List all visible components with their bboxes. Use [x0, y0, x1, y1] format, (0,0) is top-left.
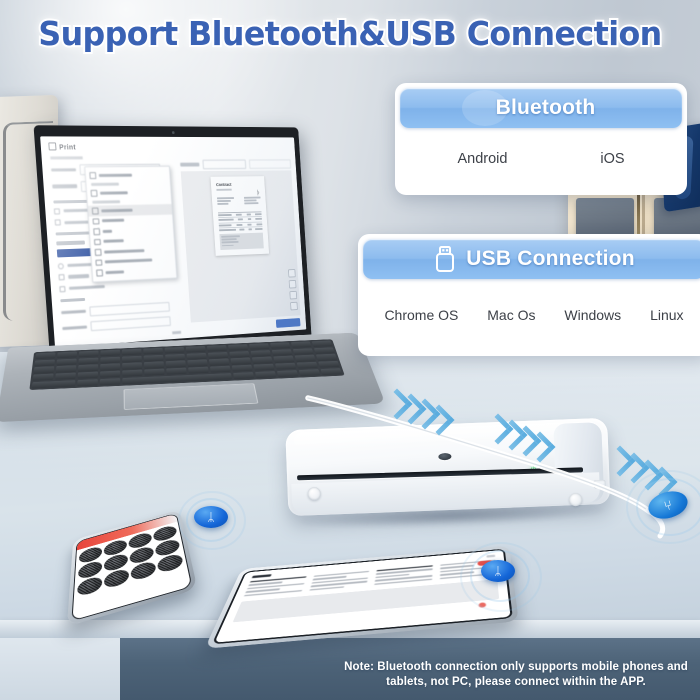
desk-underside-left [0, 638, 120, 700]
print-dialog: Print [40, 136, 306, 347]
dropdown-item[interactable] [92, 264, 176, 278]
os-label-windows: Windows [564, 307, 621, 323]
usb-port [593, 480, 605, 488]
laptop-keyboard[interactable] [29, 339, 344, 390]
usb-os-list: Chrome OS Mac Os Windows Linux [358, 279, 700, 351]
os-label-chromeos: Chrome OS [384, 307, 458, 323]
os-label-ios: iOS [600, 151, 624, 167]
preview-column: Contract ᚦ [180, 159, 301, 322]
preview-toolbar[interactable] [180, 159, 291, 169]
panel-connector [637, 193, 640, 235]
footer-note: Note: Bluetooth connection only supports… [336, 660, 696, 690]
laptop-screen: Print [40, 136, 306, 347]
dropdown-item[interactable] [85, 170, 169, 181]
gallery-item[interactable] [104, 567, 129, 589]
page-size-row[interactable] [61, 302, 170, 318]
document-preview: Contract ᚦ [181, 170, 301, 322]
zoom-out-icon[interactable] [289, 280, 297, 289]
usb-drive-icon [433, 245, 457, 273]
laptop-trackpad[interactable] [124, 383, 259, 410]
print-dialog-subtitle [50, 156, 83, 159]
printer-icon [48, 142, 56, 150]
bluetooth-icon: ᚦ [257, 190, 261, 197]
laptop-base [0, 333, 385, 423]
os-label-linux: Linux [650, 307, 683, 323]
product-marketing-image: Print [0, 0, 700, 700]
gallery-item[interactable] [157, 552, 184, 574]
os-label-android: Android [457, 151, 507, 167]
preview-doc-subtitle [216, 189, 231, 191]
usb-panel: USB Connection Chrome OS Mac Os Windows … [358, 234, 700, 356]
preview-tool-buttons[interactable] [288, 269, 298, 310]
laptop: Print [10, 126, 360, 446]
preview-table [218, 211, 263, 233]
usb-panel-title: USB Connection [466, 247, 634, 271]
fit-page-icon[interactable] [289, 291, 297, 300]
preview-page: Contract ᚦ [210, 176, 269, 256]
section-label [56, 232, 90, 236]
preview-columns [217, 197, 261, 207]
webcam-icon [172, 131, 175, 134]
gallery-item[interactable] [77, 575, 102, 597]
bluetooth-badge-icon: ᛦ [481, 560, 515, 582]
dropdown-group-label [92, 200, 120, 203]
bluetooth-panel-title: Bluetooth [496, 96, 596, 120]
bluetooth-panel-header: Bluetooth [400, 88, 682, 128]
os-label-macos: Mac Os [487, 307, 535, 323]
dropdown-group-label [91, 183, 119, 186]
zoom-in-icon[interactable] [288, 269, 296, 278]
section-label [60, 297, 85, 302]
print-dialog-title: Print [48, 142, 76, 151]
preview-footer-block [219, 233, 263, 250]
bluetooth-panel: Bluetooth Android iOS [395, 83, 687, 195]
gallery-item[interactable] [130, 560, 156, 582]
print-button[interactable] [276, 318, 301, 328]
laptop-lid: Print [33, 125, 311, 358]
zoom-level-label [172, 331, 181, 334]
preview-doc-title: Contract [216, 182, 260, 187]
bluetooth-os-list: Android iOS [395, 128, 687, 190]
bluetooth-badge-icon: ᛦ [194, 506, 228, 528]
rotate-icon[interactable] [290, 302, 298, 311]
dropdown-item[interactable] [87, 187, 171, 199]
usb-panel-header: USB Connection [363, 239, 700, 279]
printer-dropdown-list[interactable] [84, 166, 177, 283]
portable-thermal-printer: ⏻ [285, 418, 610, 526]
checkbox-row[interactable] [59, 280, 168, 291]
section-label [56, 241, 85, 245]
orientation-row[interactable] [62, 316, 171, 333]
app-logo [252, 574, 272, 578]
page-title: Support Bluetooth&USB Connection [14, 14, 686, 53]
